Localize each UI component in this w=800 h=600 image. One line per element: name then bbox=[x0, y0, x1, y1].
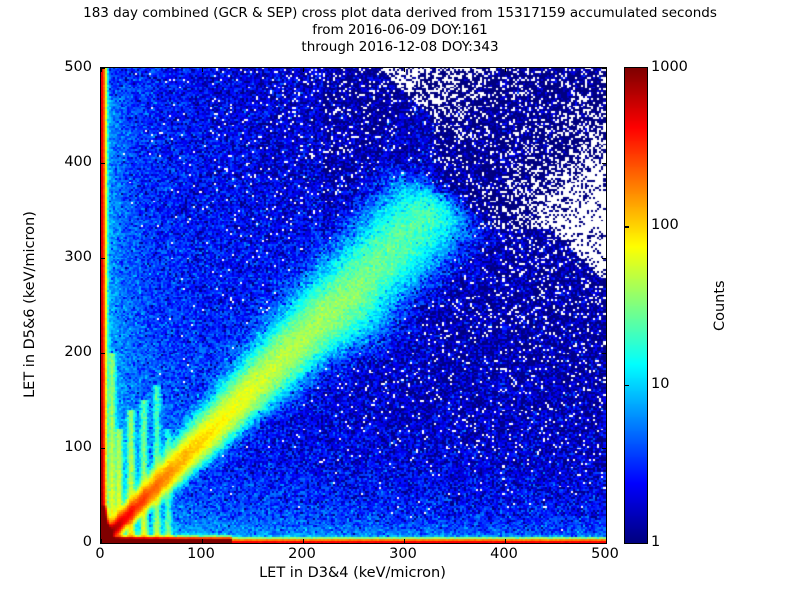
colorbar-title: Counts bbox=[712, 280, 728, 331]
colorbar-tick-mark bbox=[625, 385, 629, 386]
colorbar-tick-label-100: 100 bbox=[651, 217, 679, 233]
colorbar-tick-label-1: 1 bbox=[651, 534, 660, 550]
x-axis-title: LET in D3&4 (keV/micron) bbox=[100, 565, 605, 581]
y-tick-label-100: 100 bbox=[64, 439, 92, 455]
y-axis-title: LET in D5&6 (keV/micron) bbox=[22, 67, 38, 542]
y-tick-label-500: 500 bbox=[64, 59, 92, 75]
colorbar-tick-label-10: 10 bbox=[651, 376, 669, 392]
y-tick-label-300: 300 bbox=[64, 249, 92, 265]
y-tick-label-200: 200 bbox=[64, 344, 92, 360]
y-axis-ticks: 0100200300400500 bbox=[0, 0, 800, 600]
colorbar-tick-mark bbox=[625, 226, 629, 227]
colorbar-gradient bbox=[625, 68, 647, 543]
colorbar bbox=[624, 67, 648, 544]
y-tick-label-0: 0 bbox=[83, 534, 92, 550]
y-tick-label-400: 400 bbox=[64, 154, 92, 170]
figure-canvas: 183 day combined (GCR & SEP) cross plot … bbox=[0, 0, 800, 600]
colorbar-tick-label-1000: 1000 bbox=[651, 59, 688, 75]
